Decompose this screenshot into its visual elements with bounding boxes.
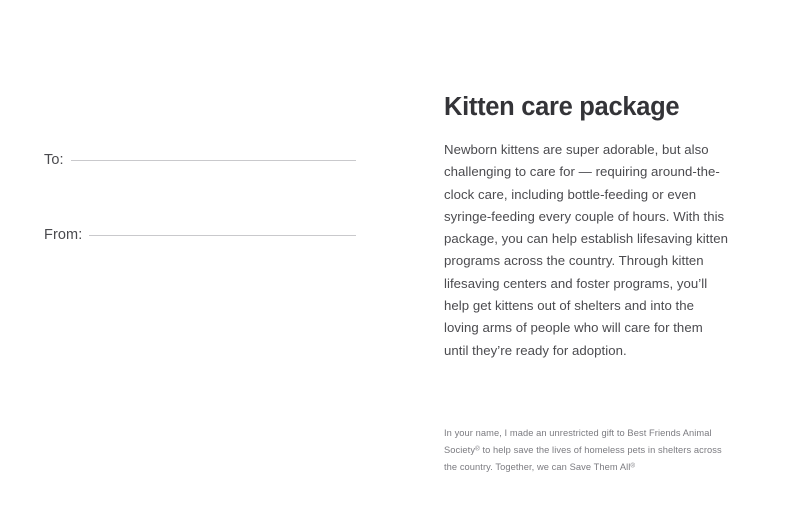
from-write-in-rule[interactable] — [89, 235, 356, 236]
field-row-from[interactable]: From: — [44, 227, 356, 243]
donation-disclaimer: In your name, I made an unrestricted gif… — [444, 425, 736, 477]
package-description: Newborn kittens are super adorable, but … — [444, 139, 728, 362]
registered-trademark-icon-2: ® — [630, 463, 635, 470]
package-title: Kitten care package — [444, 92, 728, 122]
to-write-in-rule[interactable] — [71, 160, 356, 161]
package-message: Kitten care package Newborn kittens are … — [444, 92, 728, 362]
to-label: To: — [44, 152, 64, 168]
field-row-to[interactable]: To: — [44, 152, 356, 168]
disclaimer-text-part-2: to help save the lives of homeless pets … — [444, 445, 722, 472]
gift-fields: To: From: — [44, 152, 356, 243]
gift-card: To: From: Kitten care package Newborn ki… — [0, 0, 800, 517]
from-label: From: — [44, 227, 82, 243]
